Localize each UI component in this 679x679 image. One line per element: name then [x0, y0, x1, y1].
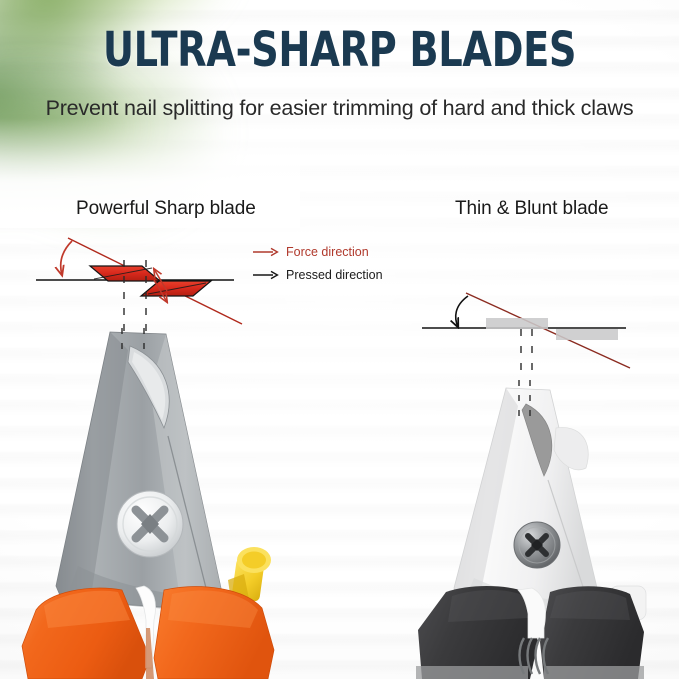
screw-icon: [117, 491, 183, 557]
lower-blade-shape: [141, 281, 211, 296]
lower-blunt-block: [556, 329, 618, 340]
infographic-canvas: ULTRA-SHARP BLADES Prevent nail splittin…: [0, 0, 679, 679]
page-title: ULTRA-SHARP BLADES: [68, 22, 611, 78]
white-nail-clipper-illustration: [398, 380, 679, 679]
legend-item-pressed: Pressed direction: [253, 268, 383, 282]
upper-blade-shape: [90, 266, 160, 281]
angle-arc-icon: [61, 241, 72, 275]
green-blur-decoration-secondary: [0, 60, 260, 210]
screw-icon: [514, 522, 560, 568]
clipper-head: [56, 332, 222, 610]
legend-label-force: Force direction: [286, 245, 369, 259]
clipper-head: [454, 388, 598, 612]
right-panel-caption: Thin & Blunt blade: [455, 198, 608, 220]
right-blade-angle-diagram: [418, 280, 648, 380]
orange-nail-clipper-illustration: [18, 328, 328, 679]
page-subtitle: Prevent nail splitting for easier trimmi…: [0, 96, 679, 121]
angle-arc-icon: [456, 296, 468, 327]
legend-label-pressed: Pressed direction: [286, 268, 383, 282]
left-panel-caption: Powerful Sharp blade: [76, 198, 256, 220]
upper-blunt-block: [486, 318, 548, 329]
legend-item-force: Force direction: [253, 245, 383, 259]
legend: Force direction Pressed direction: [253, 245, 383, 282]
arrow-right-icon: [253, 247, 279, 257]
handle-right: [540, 586, 644, 679]
arrow-right-icon: [253, 270, 279, 280]
